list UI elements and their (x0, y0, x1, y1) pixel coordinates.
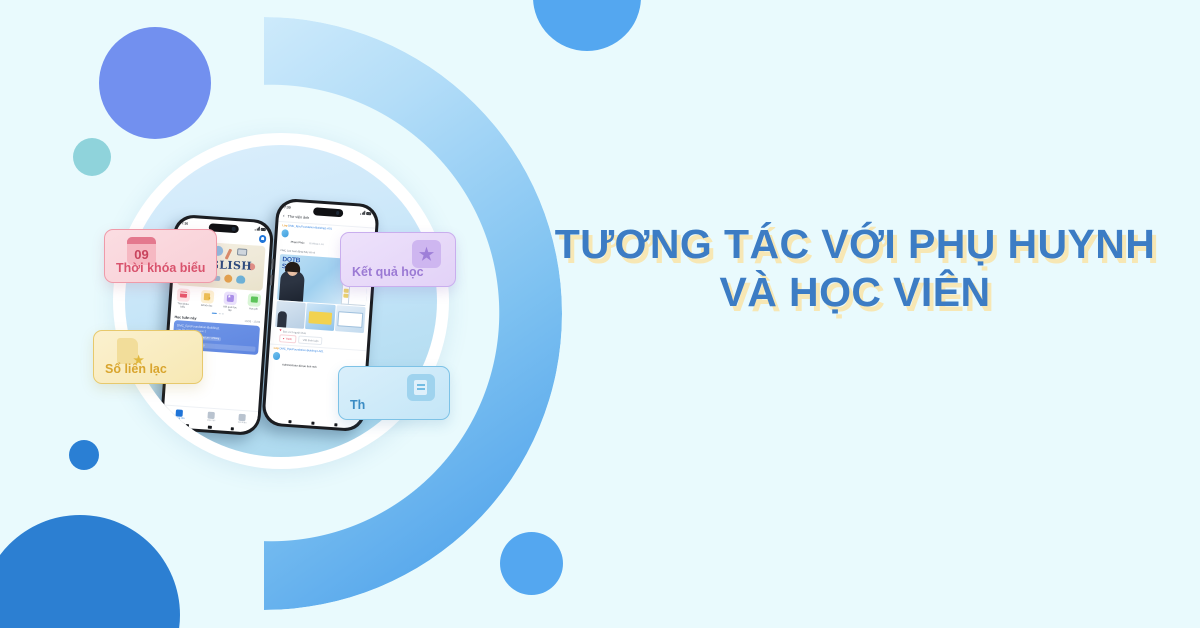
quick-action-contact[interactable]: Sổ liên lạc (199, 289, 215, 310)
post-author: Administrator đã tạo ảnh mới (282, 364, 317, 369)
feature-card-label: Th (350, 398, 365, 412)
person-photo (279, 270, 305, 302)
receipt-icon (407, 374, 435, 401)
feature-card-label: Sổ liên lạc (105, 362, 167, 376)
book-icon (247, 293, 261, 307)
home-icon (176, 409, 183, 416)
big-blue-circle-decoration (0, 515, 180, 628)
quick-action-result[interactable]: ★ Kết quả học tập (222, 291, 238, 312)
quick-action-schedule[interactable]: Thời khóa biểu (175, 288, 191, 309)
document-icon (200, 289, 214, 303)
person-icon (239, 414, 246, 421)
avatar (281, 229, 289, 237)
mid-blue-circle-decoration (500, 532, 563, 595)
ball-doodle-icon (224, 274, 233, 283)
periwinkle-circle-decoration (99, 27, 211, 139)
feature-card-result[interactable]: ★ Kết quả học (340, 232, 456, 287)
thumbnail[interactable] (305, 303, 336, 331)
post-meta: Administrator đã tạo ảnh mới (282, 353, 318, 373)
post-link-prefix: Lớp (274, 347, 279, 350)
battery-icon (366, 212, 372, 215)
headline-line-1: TƯƠNG TÁC VỚI PHỤ HUYNH (555, 221, 1156, 267)
post-date: 26 tháng 2, 16 (309, 243, 324, 246)
top-blue-circle-decoration (533, 0, 641, 51)
banner-canvas: 7:30 Đỗ Đức Minh (0, 0, 1200, 628)
teal-circle-decoration (73, 138, 111, 176)
page-title: Thư viện ảnh (287, 215, 309, 221)
tab-profile[interactable]: Cá nhân (238, 414, 247, 425)
quick-action-label: Thời khóa biểu (175, 302, 190, 309)
quick-action-label: Học phí (249, 307, 258, 311)
status-icons (255, 227, 266, 232)
status-time: 7:30 (181, 221, 188, 225)
feature-card-label: Kết quả học (352, 265, 424, 279)
star-icon: ★ (224, 291, 238, 305)
laptop-doodle-icon (237, 248, 247, 256)
tab-class[interactable]: Lớp học (207, 411, 216, 422)
quick-action-label: Sổ liên lạc (201, 304, 213, 308)
tab-label: Trang chủ (174, 417, 184, 420)
calendar-icon (208, 411, 215, 418)
comment-button[interactable]: Viết bình luận (298, 336, 322, 345)
thumbnail[interactable] (335, 305, 366, 333)
post-link-prefix: Lớp (282, 224, 287, 227)
avatar (273, 352, 281, 360)
feature-card-label: Thời khóa biểu (116, 261, 205, 275)
like-label: Thích (285, 337, 292, 340)
section-daterange: 10/06 - 15/06 (244, 320, 260, 324)
small-blue-circle-decoration (69, 440, 99, 470)
feature-card-schedule[interactable]: 09 Thời khóa biểu (104, 229, 217, 283)
thumbnail[interactable] (275, 301, 306, 329)
bell-icon[interactable] (259, 235, 267, 243)
status-time: 7:30 (284, 205, 291, 209)
headline-line-2: VÀ HỌC VIÊN (530, 269, 1180, 317)
signal-icon (255, 227, 260, 231)
status-icons (360, 211, 371, 216)
quick-action-label: Kết quả học tập (222, 305, 237, 312)
signal-icon (360, 211, 365, 215)
tab-label: Lớp học (207, 419, 216, 422)
feature-card-contact[interactable]: ★ Sổ liên lạc (93, 330, 203, 384)
like-button[interactable]: ♥ Thích (279, 335, 297, 344)
star-icon: ★ (412, 240, 441, 268)
calendar-icon (177, 288, 191, 302)
quick-action-tuition[interactable]: Học phí (246, 293, 262, 314)
star-glyph: ★ (419, 246, 434, 263)
heart-icon: ♥ (279, 329, 281, 333)
post-meta: Phạm Phúc 26 tháng 2, 16 (290, 230, 324, 250)
page-title: TƯƠNG TÁC VỚI PHỤ HUYNH VÀ HỌC VIÊN (530, 221, 1180, 317)
heart-icon: ♥ (283, 337, 285, 340)
pencil-doodle-icon (224, 248, 232, 259)
post-author: Phạm Phúc (291, 241, 305, 245)
tab-home[interactable]: Trang chủ (174, 409, 185, 420)
feature-card-tuition[interactable]: Th (338, 366, 450, 420)
battery-icon (261, 228, 267, 231)
tab-label: Cá nhân (238, 422, 247, 425)
arrow-left-icon[interactable]: ‹ (283, 214, 285, 219)
bag-doodle-icon (236, 275, 246, 284)
section-title: Học tuần này (174, 315, 196, 321)
